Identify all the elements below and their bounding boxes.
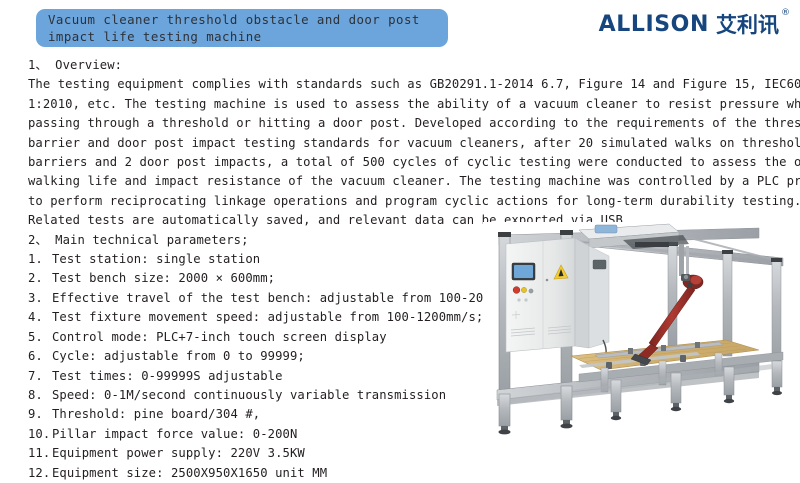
- parameter-number: 7.: [28, 367, 52, 386]
- overview-line: 1:2010, etc. The testing machine is used…: [28, 95, 786, 114]
- parameter-number: 11.: [28, 444, 52, 463]
- overview-line: passing through a threshold or hitting a…: [28, 114, 786, 133]
- parameter-text: Equipment size: 2500X950X1650 unit MM: [52, 466, 327, 480]
- registered-trademark-icon: ®: [781, 8, 790, 18]
- title-banner: Vacuum cleaner threshold obstacle and do…: [36, 9, 448, 47]
- machine-photo-illustration: [483, 222, 796, 448]
- brand-logo-cjk-text: 艾利讯: [716, 13, 779, 37]
- parameter-number: 2.: [28, 269, 52, 288]
- parameter-number: 8.: [28, 386, 52, 405]
- parameter-number: 1.: [28, 250, 52, 269]
- brand-logo: ALLISON 艾利讯 ®: [599, 13, 790, 45]
- parameter-number: 9.: [28, 405, 52, 424]
- parameter-text: Test times: 0-99999S adjustable: [52, 369, 283, 383]
- brand-logo-latin-text: ALLISON: [599, 13, 709, 37]
- parameter-number: 12.: [28, 464, 52, 483]
- parameter-text: Test bench size: 2000 × 600mm;: [52, 271, 275, 285]
- parameter-text: Control mode: PLC+7-inch touch screen di…: [52, 330, 387, 344]
- parameter-number: 3.: [28, 289, 52, 308]
- parameter-text: Threshold: pine board/304 #,: [52, 407, 260, 421]
- overview-line: barriers and 2 door post impacts, a tota…: [28, 153, 786, 172]
- overview-section: 1、 Overview: The testing equipment compl…: [0, 56, 800, 231]
- parameter-text: Pillar impact force value: 0-200N: [52, 427, 297, 441]
- parameter-text: Test station: single station: [52, 252, 260, 266]
- parameter-text: Effective travel of the test bench: adju…: [52, 291, 521, 305]
- parameter-number: 5.: [28, 328, 52, 347]
- page-header: Vacuum cleaner threshold obstacle and do…: [0, 0, 800, 56]
- overview-heading: 1、 Overview:: [28, 56, 786, 75]
- parameter-text: Cycle: adjustable from 0 to 99999;: [52, 349, 305, 363]
- parameter-text: Speed: 0-1M/second continuously variable…: [52, 388, 446, 402]
- parameter-text: Test fixture movement speed: adjustable …: [52, 310, 483, 324]
- parameter-text: Equipment power supply: 220V 3.5KW: [52, 446, 305, 460]
- parameter-number: 10.: [28, 425, 52, 444]
- page-title-line-1: Vacuum cleaner threshold obstacle and do…: [48, 12, 448, 29]
- parameter-number: 4.: [28, 308, 52, 327]
- parameter-item: 12.Equipment size: 2500X950X1650 unit MM: [28, 464, 786, 483]
- overview-line: barrier and door post impact testing sta…: [28, 134, 786, 153]
- parameter-number: 6.: [28, 347, 52, 366]
- overview-line: to perform reciprocating linkage operati…: [28, 192, 786, 211]
- overview-line: walking life and impact resistance of th…: [28, 172, 786, 191]
- overview-line: The testing equipment complies with stan…: [28, 75, 786, 94]
- machine-photo: [483, 222, 796, 448]
- page-title-line-2: impact life testing machine: [48, 29, 448, 46]
